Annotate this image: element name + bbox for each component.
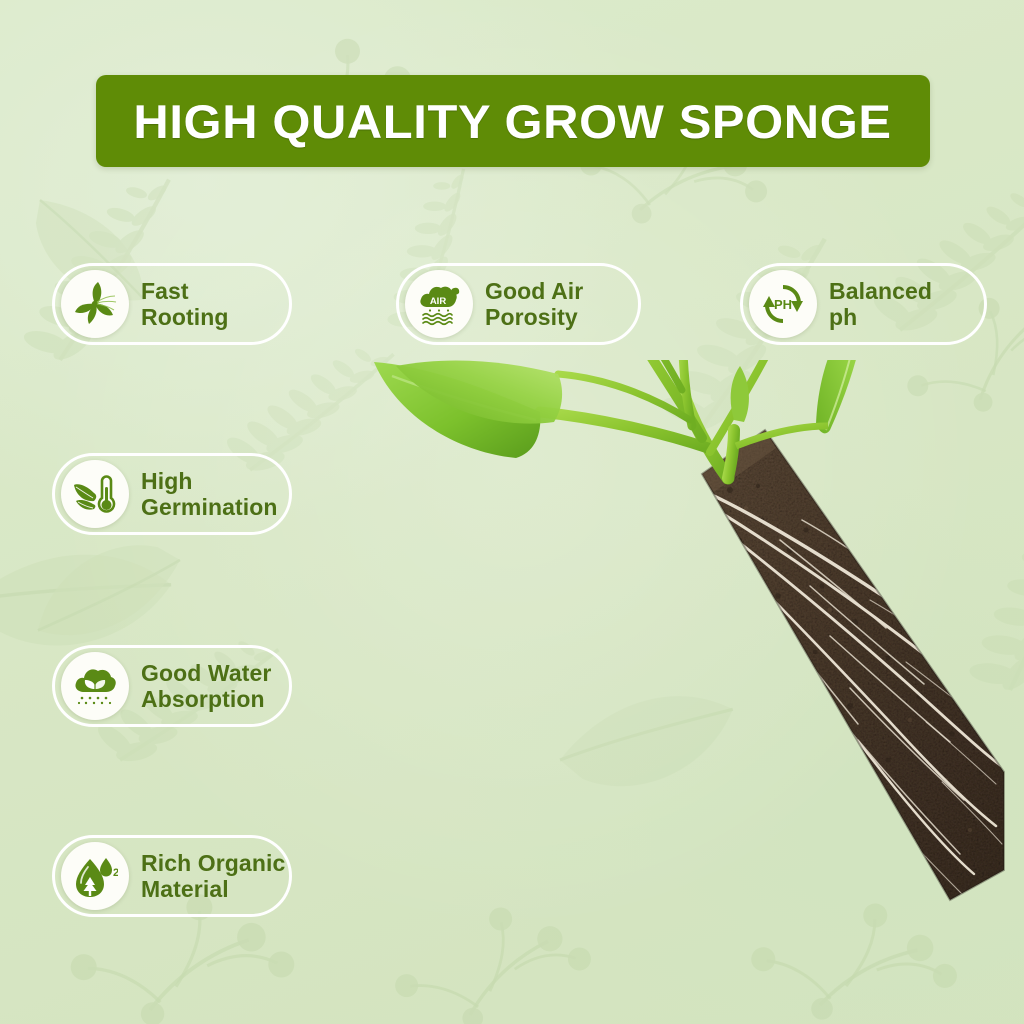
title-banner: HIGH QUALITY GROW SPONGE [96, 75, 930, 167]
feature-label: High Germination [141, 468, 278, 520]
feature-label: Good Air Porosity [485, 278, 583, 330]
svg-text:2: 2 [113, 867, 118, 879]
feature-pill-rich-organic-material[interactable]: 2 Rich Organic Material [52, 835, 292, 917]
feature-pill-good-air-porosity[interactable]: AIR Good Air Porosity [396, 263, 641, 345]
feature-pill-fast-rooting[interactable]: Fast Rooting [52, 263, 292, 345]
svg-text:PH: PH [774, 297, 792, 312]
feature-pill-good-water-absorption[interactable]: Good Water Absorption [52, 645, 292, 727]
feature-pill-high-germination[interactable]: High Germination [52, 453, 292, 535]
feature-label: Fast Rooting [141, 278, 229, 330]
feature-label: Balanced ph [829, 278, 932, 330]
product-infographic: HIGH QUALITY GROW SPONGE Fast Root [0, 0, 1024, 1024]
cloud-leaf-rain-icon [61, 652, 129, 720]
ph-cycle-arrows-icon: PH [749, 270, 817, 338]
page-title: HIGH QUALITY GROW SPONGE [134, 94, 892, 149]
three-leaves-roots-icon [61, 270, 129, 338]
feature-label: Good Water Absorption [141, 660, 271, 712]
svg-text:AIR: AIR [430, 296, 447, 307]
droplet-tree-o2-icon: 2 [61, 842, 129, 910]
feature-label: Rich Organic Material [141, 850, 285, 902]
thermometer-leaf-icon [61, 460, 129, 528]
air-cloud-icon: AIR [405, 270, 473, 338]
feature-pill-balanced-ph[interactable]: PH Balanced ph [740, 263, 987, 345]
